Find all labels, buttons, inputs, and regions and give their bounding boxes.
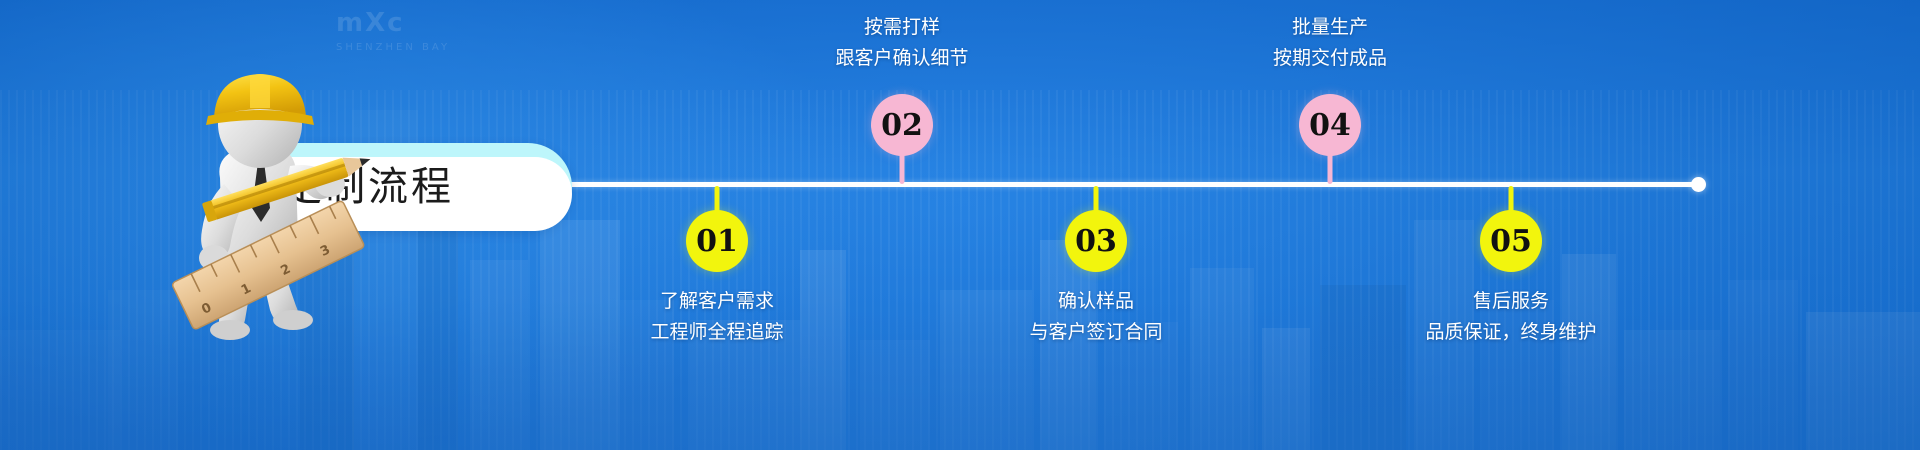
step-caption-line2: 按期交付成品 <box>1273 43 1387 74</box>
step-stem-04 <box>1328 152 1333 184</box>
step-caption-03: 确认样品 与客户签订合同 <box>1029 286 1162 348</box>
step-caption-02: 按需打样 跟客户确认细节 <box>835 12 968 74</box>
watermark-text: mXc <box>336 8 405 38</box>
timeline-end-dot <box>1691 177 1706 192</box>
watermark-logo: mXc SHENZHEN BAY <box>336 8 450 53</box>
watermark-subtext: SHENZHEN BAY <box>336 42 450 53</box>
step-number-bubble-01[interactable]: 01 <box>686 210 748 272</box>
step-caption-line2: 工程师全程追踪 <box>650 317 783 348</box>
step-caption-line1: 售后服务 <box>1473 290 1549 312</box>
step-number-bubble-02[interactable]: 02 <box>871 94 933 156</box>
step-stem-02 <box>900 152 905 184</box>
timeline-axis <box>468 182 1703 187</box>
step-caption-line1: 批量生产 <box>1292 16 1368 38</box>
step-caption-04: 批量生产 按期交付成品 <box>1273 12 1387 74</box>
step-caption-line2: 与客户签订合同 <box>1029 317 1162 348</box>
step-number-bubble-04[interactable]: 04 <box>1299 94 1361 156</box>
step-number-bubble-03[interactable]: 03 <box>1065 210 1127 272</box>
engineer-mascot-illustration: 0 1 2 3 <box>150 62 380 342</box>
step-caption-line2: 品质保证，终身维护 <box>1425 317 1596 348</box>
step-number-bubble-05[interactable]: 05 <box>1480 210 1542 272</box>
step-caption-line1: 确认样品 <box>1058 290 1134 312</box>
step-caption-line2: 跟客户确认细节 <box>835 43 968 74</box>
step-caption-01: 了解客户需求 工程师全程追踪 <box>650 286 783 348</box>
step-caption-line1: 按需打样 <box>864 16 940 38</box>
step-caption-05: 售后服务 品质保证，终身维护 <box>1425 286 1596 348</box>
step-caption-line1: 了解客户需求 <box>660 290 774 312</box>
